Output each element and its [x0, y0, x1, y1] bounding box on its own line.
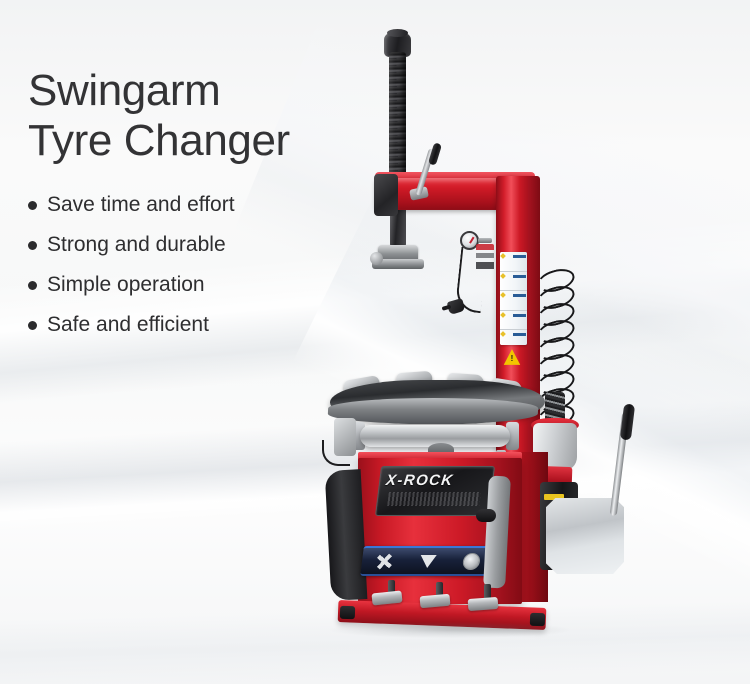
left-fender: [325, 469, 368, 601]
decal-row: [500, 272, 527, 292]
brand-plate-fineprint: [387, 492, 481, 506]
control-panel[interactable]: [360, 546, 496, 576]
demount-head-nub: [370, 252, 383, 265]
gauge-stem: [478, 238, 492, 243]
air-chuck-icon: [447, 298, 466, 315]
product-banner: Swingarm Tyre Changer Save time and effo…: [0, 0, 750, 684]
feature-label: Simple operation: [47, 272, 205, 298]
decal-row: [500, 252, 527, 272]
base-rail-end-cap: [340, 606, 355, 620]
cross-valve-icon[interactable]: [372, 549, 396, 573]
bullet-icon: [28, 321, 37, 330]
feature-label: Save time and effort: [47, 192, 235, 218]
bead-breaker-handle-grip: [620, 403, 635, 440]
instruction-decal: [500, 252, 527, 345]
arm-lock-lever-grip: [428, 142, 442, 165]
decal-row: [500, 291, 527, 311]
turntable-air-hose: [322, 440, 350, 466]
feature-label: Strong and durable: [47, 232, 226, 258]
ground-shadow: [330, 622, 570, 638]
bullet-icon: [28, 201, 37, 210]
bullet-icon: [28, 241, 37, 250]
decal-row: [500, 330, 527, 345]
product-image: X-ROCK: [300, 0, 750, 684]
foot-pedal: [468, 597, 499, 611]
decal-row: [500, 311, 527, 331]
turntable-plate: [327, 398, 538, 424]
brand-logo: X-ROCK: [385, 472, 487, 489]
feature-label: Safe and efficient: [47, 312, 209, 338]
pedal-icon[interactable]: [419, 555, 437, 568]
swing-arm-end-cap: [374, 174, 398, 216]
bead-breaker-knob: [476, 509, 496, 522]
bullet-icon: [28, 281, 37, 290]
gauge-icon[interactable]: [462, 553, 481, 570]
